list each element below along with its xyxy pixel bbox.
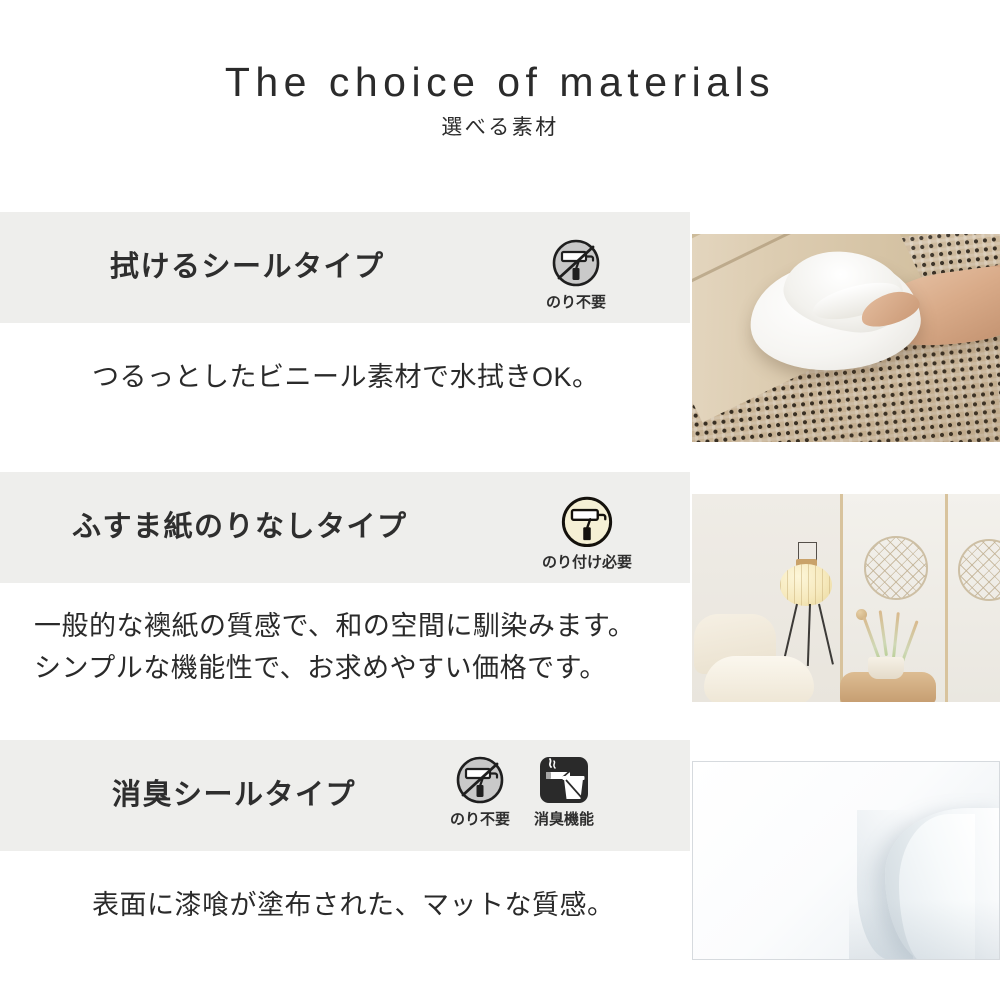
paper-lantern-lamp <box>780 564 832 606</box>
section-description: 表面に漆喰が塗布された、マットな質感。 <box>92 885 615 927</box>
lattice-circle-1 <box>864 536 928 600</box>
paper-bottom-shadow <box>849 899 999 959</box>
badge-label: のり不要 <box>546 295 606 312</box>
materials-choice-page: The choice of materials 選べる素材 拭けるシールタイプ … <box>0 0 1000 1000</box>
page-header: The choice of materials 選べる素材 <box>0 0 1000 200</box>
no-glue-roller-icon <box>549 238 603 292</box>
japanese-interior-photo <box>692 494 1000 702</box>
page-subtitle: 選べる素材 <box>0 117 1000 138</box>
armchair-seat <box>704 656 814 702</box>
badge-group: のり不要 消臭機能 <box>444 755 600 829</box>
section-title: 拭けるシールタイプ <box>110 253 385 282</box>
badge-group: のり不要 <box>540 238 612 312</box>
badge-no-glue: のり不要 <box>444 755 516 829</box>
white-curled-paper-photo <box>692 761 1000 960</box>
section-title: ふすま紙のりなしタイプ <box>72 513 408 542</box>
section-description: 一般的な襖紙の質感で、和の空間に馴染みます。 シンプルな機能性で、お求めやすい価… <box>34 606 635 690</box>
deodorizing-icon <box>537 755 591 809</box>
badge-group: のり付け必要 <box>527 494 647 572</box>
badge-no-glue: のり不要 <box>540 238 612 312</box>
glue-roller-icon <box>558 494 616 552</box>
no-glue-roller-icon <box>453 755 507 809</box>
section-description: つるっとしたビニール素材で水拭きOK。 <box>92 357 600 399</box>
badge-label: のり付け必要 <box>542 555 632 572</box>
wiping-cane-surface-photo <box>692 234 1000 442</box>
badge-deodorizing: 消臭機能 <box>528 755 600 829</box>
badge-glue-required: のり付け必要 <box>527 494 647 572</box>
page-title: The choice of materials <box>0 62 1000 103</box>
plant-pot <box>868 657 904 679</box>
badge-label: のり不要 <box>450 812 510 829</box>
badge-label: 消臭機能 <box>534 812 594 829</box>
section-title: 消臭シールタイプ <box>112 781 356 810</box>
